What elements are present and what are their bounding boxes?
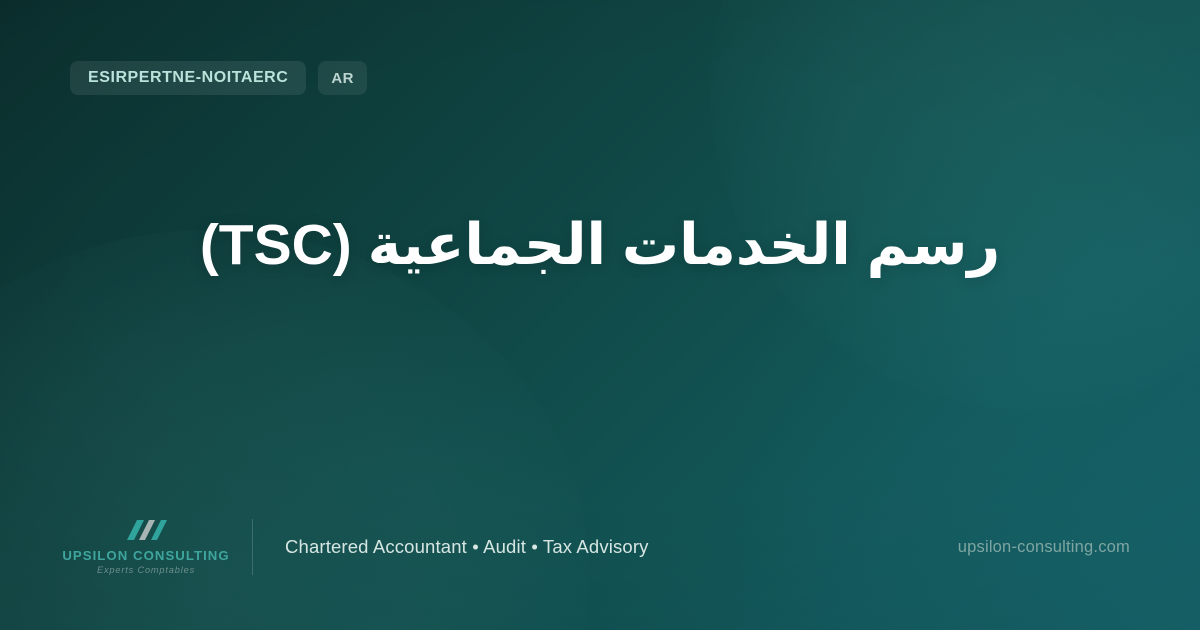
brand-tagline: Experts Comptables	[97, 566, 195, 575]
services-list: Chartered Accountant • Audit • Tax Advis…	[285, 536, 649, 558]
upsilon-slanted-bars-icon	[115, 519, 177, 546]
footer-divider	[252, 519, 253, 575]
footer: UPSILON CONSULTING Experts Comptables Ch…	[70, 516, 1130, 578]
category-badge[interactable]: ESIRPERTNE-NOITAERC	[70, 61, 306, 95]
social-share-card: ESIRPERTNE-NOITAERC AR رسم الخدمات الجما…	[0, 0, 1200, 630]
brand-name: UPSILON CONSULTING	[62, 549, 229, 562]
brand-lockup[interactable]: UPSILON CONSULTING Experts Comptables	[70, 519, 222, 575]
language-badge[interactable]: AR	[318, 61, 366, 95]
website-url[interactable]: upsilon-consulting.com	[958, 538, 1130, 557]
page-title: رسم الخدمات الجماعية (TSC)	[200, 208, 1000, 282]
badge-row: ESIRPERTNE-NOITAERC AR	[70, 61, 367, 95]
